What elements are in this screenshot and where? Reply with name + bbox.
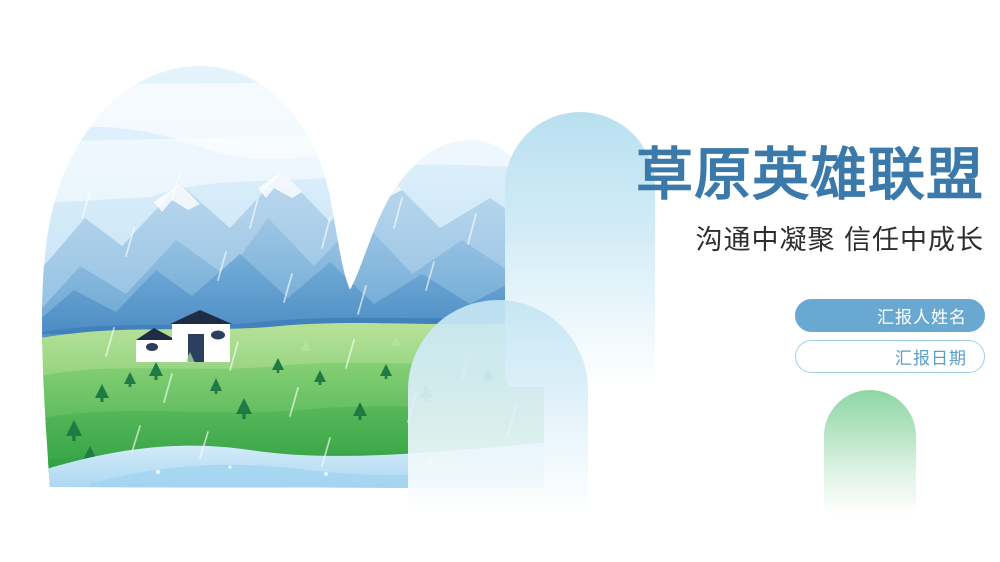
scene-clip-group (30, 22, 550, 492)
slide-canvas: 草原英雄联盟 沟通中凝聚 信任中成长 汇报人姓名 汇报日期 (0, 0, 1000, 562)
green-arch (824, 390, 916, 515)
report-date-button[interactable]: 汇报日期 (795, 340, 985, 373)
page-title: 草原英雄联盟 (600, 142, 984, 208)
illustration (30, 22, 550, 492)
presenter-name-button[interactable]: 汇报人姓名 (795, 299, 985, 332)
page-subtitle: 沟通中凝聚 信任中成长 (600, 222, 984, 258)
meta-button-group: 汇报人姓名 汇报日期 (795, 299, 985, 373)
grassland-scene-svg (30, 22, 550, 492)
